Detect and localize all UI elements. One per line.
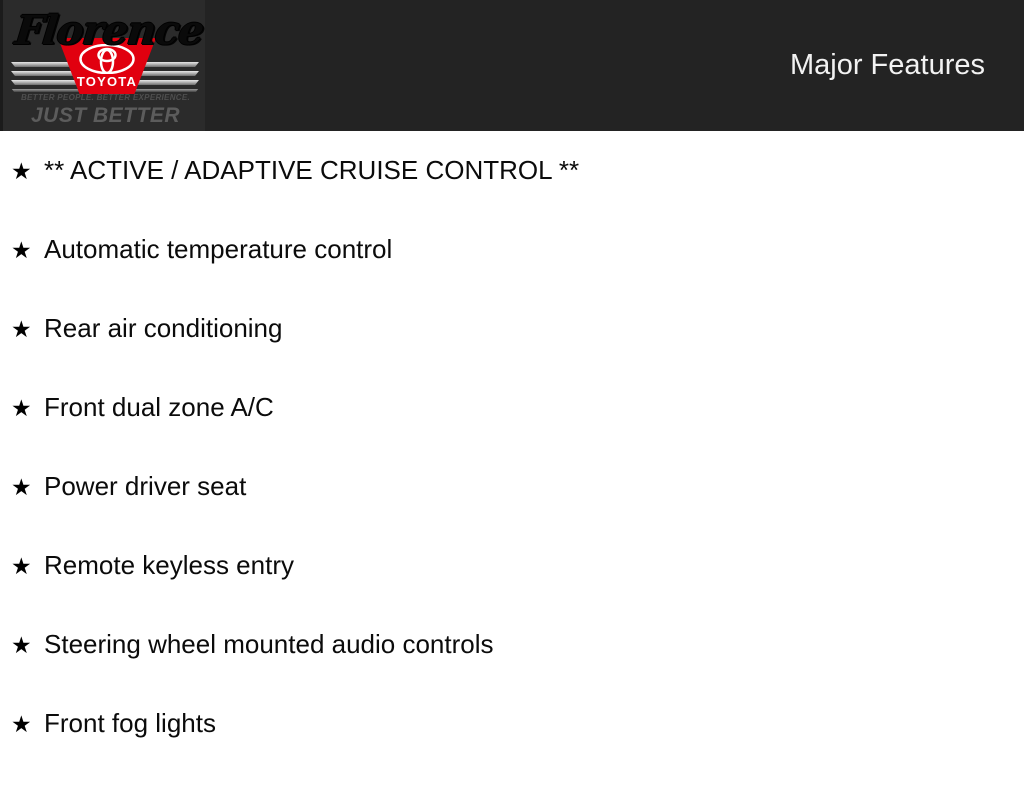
logo-tagline-large: JUST BETTER xyxy=(3,104,205,128)
list-item: ★ Front fog lights xyxy=(0,710,1024,789)
page-title: Major Features xyxy=(790,0,985,131)
feature-label: Power driver seat xyxy=(44,473,246,499)
star-bullet-icon: ★ xyxy=(11,556,44,579)
star-bullet-icon: ★ xyxy=(11,635,44,658)
star-bullet-icon: ★ xyxy=(11,240,44,263)
star-bullet-icon: ★ xyxy=(11,161,44,184)
dealer-logo[interactable]: Florence TOYOTA BETTER PEOPLE. BETTER EX… xyxy=(0,0,205,131)
feature-label: ** ACTIVE / ADAPTIVE CRUISE CONTROL ** xyxy=(44,157,579,183)
toyota-wordmark: TOYOTA xyxy=(58,74,156,89)
list-item: ★ Rear air conditioning xyxy=(0,315,1024,394)
feature-label: Remote keyless entry xyxy=(44,552,294,578)
list-item: ★ Power driver seat xyxy=(0,473,1024,552)
logo-tagline-small: BETTER PEOPLE. BETTER EXPERIENCE. xyxy=(3,93,205,102)
list-item: ★ Automatic temperature control xyxy=(0,236,1024,315)
star-bullet-icon: ★ xyxy=(11,477,44,500)
feature-label: Front fog lights xyxy=(44,710,216,736)
page-header: Florence TOYOTA BETTER PEOPLE. BETTER EX… xyxy=(0,0,1024,131)
features-list: ★ ** ACTIVE / ADAPTIVE CRUISE CONTROL **… xyxy=(0,131,1024,789)
feature-label: Front dual zone A/C xyxy=(44,394,274,420)
star-bullet-icon: ★ xyxy=(11,319,44,342)
list-item: ★ Steering wheel mounted audio controls xyxy=(0,631,1024,710)
feature-label: Rear air conditioning xyxy=(44,315,282,341)
list-item: ★ ** ACTIVE / ADAPTIVE CRUISE CONTROL ** xyxy=(0,131,1024,236)
star-bullet-icon: ★ xyxy=(11,398,44,421)
dealer-name-script: Florence xyxy=(8,6,205,58)
star-bullet-icon: ★ xyxy=(11,714,44,737)
list-item: ★ Remote keyless entry xyxy=(0,552,1024,631)
feature-label: Steering wheel mounted audio controls xyxy=(44,631,494,657)
list-item: ★ Front dual zone A/C xyxy=(0,394,1024,473)
feature-label: Automatic temperature control xyxy=(44,236,392,262)
